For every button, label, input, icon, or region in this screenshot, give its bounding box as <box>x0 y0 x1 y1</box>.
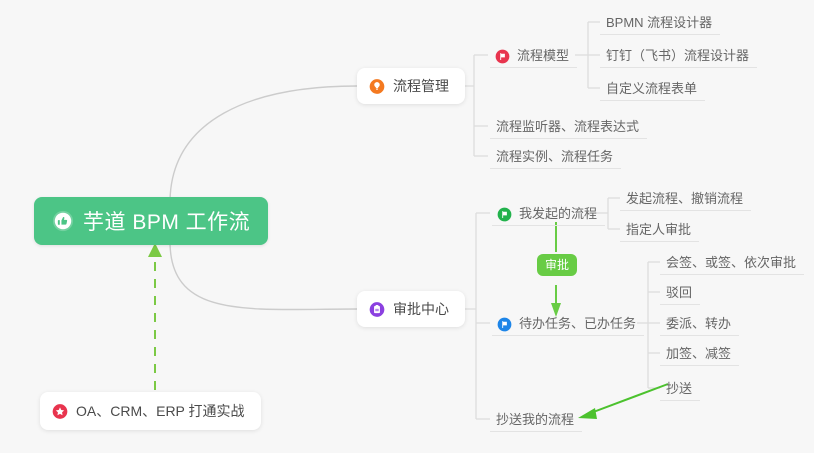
node-label: 流程模型 <box>517 45 569 64</box>
star-icon <box>52 403 68 419</box>
thumbs-up-icon <box>52 210 74 232</box>
node-label: 待办任务、已办任务 <box>519 313 636 332</box>
flag-icon <box>496 206 512 222</box>
node-cc-to-me-processes[interactable]: 抄送我的流程 <box>490 406 582 432</box>
root-node[interactable]: 芋道 BPM 工作流 <box>34 197 268 245</box>
callout-arrowhead <box>148 243 162 257</box>
node-process-model[interactable]: 流程模型 <box>490 42 577 68</box>
link-process-model-children <box>575 22 600 88</box>
node-label: 我发起的流程 <box>519 203 597 222</box>
node-bpmn-designer[interactable]: BPMN 流程设计器 <box>600 9 720 35</box>
node-label: 自定义流程表单 <box>606 78 697 97</box>
lightbulb-pin-icon <box>369 78 385 94</box>
node-countersign[interactable]: 会签、或签、依次审批 <box>660 249 804 275</box>
node-label: 加签、减签 <box>666 343 731 362</box>
flag-icon <box>494 48 510 64</box>
annotation-badge-label: 审批 <box>545 258 569 272</box>
annotation-arrow-cc <box>588 384 668 414</box>
node-label: 抄送 <box>666 378 692 397</box>
node-label: 委派、转办 <box>666 313 731 332</box>
node-add-remove-sign[interactable]: 加签、减签 <box>660 340 739 366</box>
node-assignee-approval[interactable]: 指定人审批 <box>620 216 699 242</box>
node-start-cancel-process[interactable]: 发起流程、撤销流程 <box>620 185 751 211</box>
callout-node[interactable]: OA、CRM、ERP 打通实战 <box>40 392 261 430</box>
node-label: 钉钉（飞书）流程设计器 <box>606 45 749 64</box>
link-root-to-process-management <box>170 86 357 200</box>
link-process-management-children <box>462 55 488 156</box>
root-label: 芋道 BPM 工作流 <box>83 206 250 236</box>
node-label: 会签、或签、依次审批 <box>666 252 796 271</box>
node-label: 驳回 <box>666 282 692 301</box>
branch-approval-center[interactable]: 审批中心 <box>357 291 465 327</box>
node-label: 发起流程、撤销流程 <box>626 188 743 207</box>
branch-label: 审批中心 <box>393 299 449 319</box>
node-reject[interactable]: 驳回 <box>660 279 700 305</box>
node-label: 指定人审批 <box>626 219 691 238</box>
node-delegate-transfer[interactable]: 委派、转办 <box>660 310 739 336</box>
node-my-initiated-processes[interactable]: 我发起的流程 <box>492 200 605 226</box>
link-approval-center-children <box>462 213 490 419</box>
node-label: 流程监听器、流程表达式 <box>496 116 639 135</box>
node-label: 流程实例、流程任务 <box>496 146 613 165</box>
node-custom-form[interactable]: 自定义流程表单 <box>600 75 705 101</box>
branch-process-management[interactable]: 流程管理 <box>357 68 465 104</box>
flag-icon <box>496 316 512 332</box>
node-todo-done-tasks[interactable]: 待办任务、已办任务 <box>492 310 644 336</box>
annotation-badge-approval: 审批 <box>537 254 577 276</box>
branch-label: 流程管理 <box>393 76 449 96</box>
node-process-listener[interactable]: 流程监听器、流程表达式 <box>490 113 647 139</box>
node-dingtalk-designer[interactable]: 钉钉（飞书）流程设计器 <box>600 42 757 68</box>
node-label: 抄送我的流程 <box>496 409 574 428</box>
clipboard-icon <box>369 301 385 317</box>
node-process-instance[interactable]: 流程实例、流程任务 <box>490 143 621 169</box>
node-label: BPMN 流程设计器 <box>606 12 712 31</box>
callout-label: OA、CRM、ERP 打通实战 <box>76 401 245 421</box>
node-carbon-copy[interactable]: 抄送 <box>660 375 700 401</box>
mindmap-canvas: 芋道 BPM 工作流 OA、CRM、ERP 打通实战 流程管理 <box>0 0 814 453</box>
link-root-to-approval-center <box>170 244 357 310</box>
